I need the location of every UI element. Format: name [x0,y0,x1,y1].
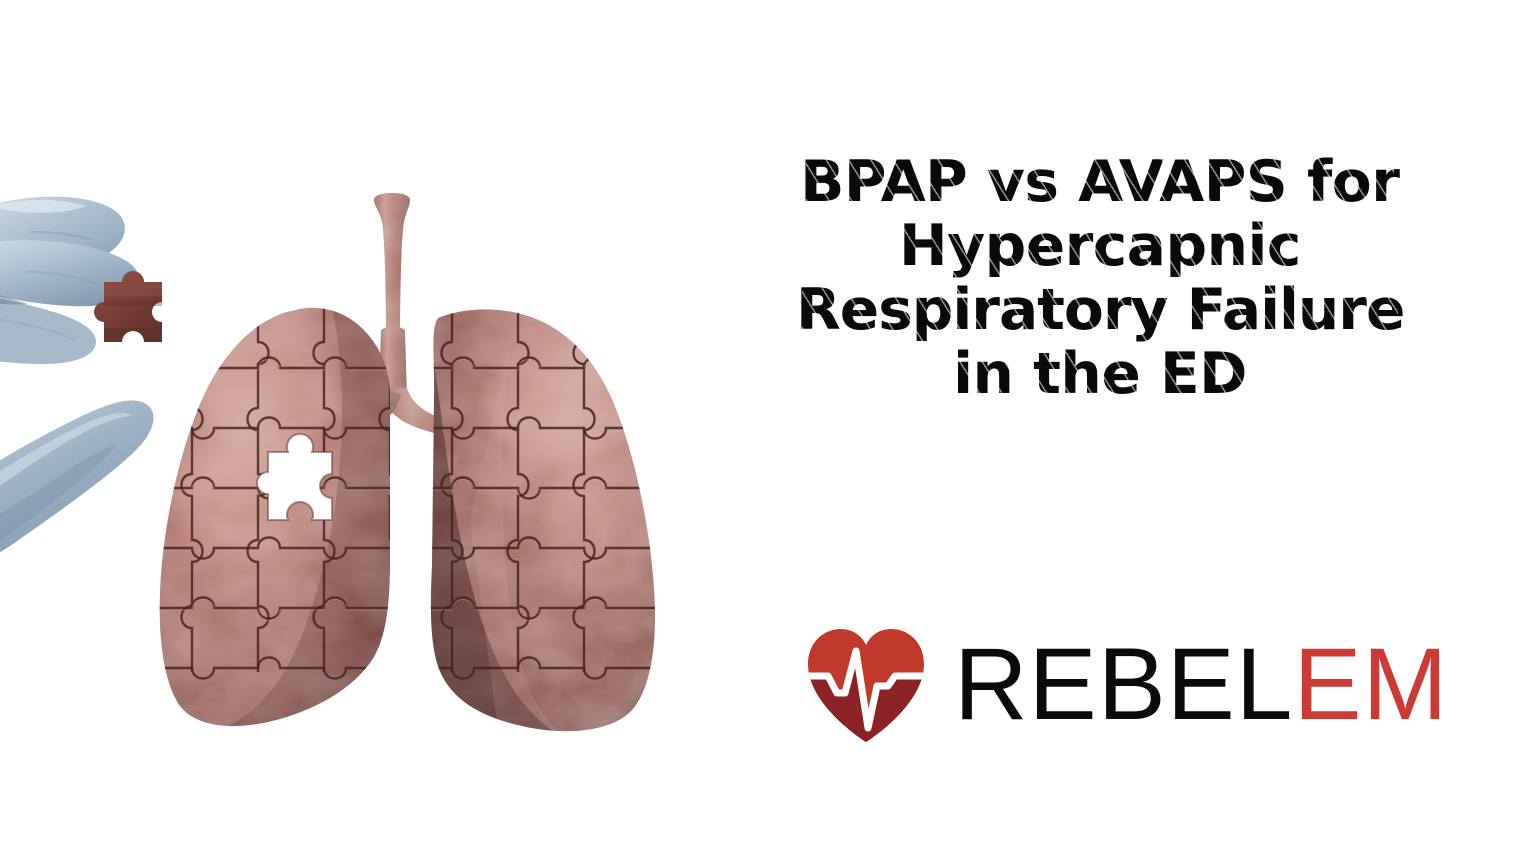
puzzle-lung-left [150,300,406,730]
title-line-3: Respiratory Failure [796,278,1404,342]
title-line-4-wrap: in the ED [956,342,1244,406]
heart-ecg-icon [800,618,932,750]
title-line-3-wrap: Respiratory Failure [802,278,1398,342]
logo-text-em: EM [1294,627,1449,741]
puzzle-lung-right [410,300,666,744]
title-line-2: Hypercapnic [899,214,1301,278]
title-line-1: BPAP vs AVAPS for [800,150,1399,214]
slide-title: BPAP vs AVAPS for Hypercapnic Respirator… [740,150,1460,406]
gloved-hand [0,197,154,572]
puzzle-lungs-artwork [0,0,720,862]
title-line-2-wrap: Hypercapnic [903,214,1297,278]
logo-wordmark: REBELEM [954,633,1449,735]
title-line-4: in the ED [953,342,1247,406]
rebelem-logo[interactable]: REBELEM [800,618,1449,750]
title-line-1-wrap: BPAP vs AVAPS for [806,150,1394,214]
slide-canvas: BPAP vs AVAPS for Hypercapnic Respirator… [0,0,1536,862]
logo-text-rebel: REBEL [954,627,1294,741]
